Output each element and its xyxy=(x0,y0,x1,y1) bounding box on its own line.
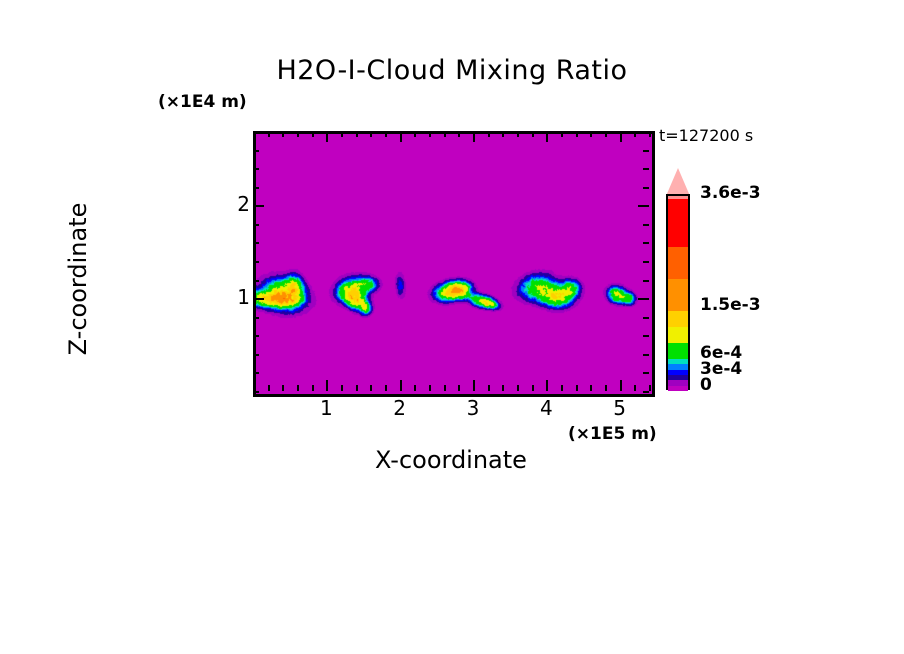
x-axis-title: X-coordinate xyxy=(253,446,649,474)
axis-tick xyxy=(400,131,402,142)
colorbar-band-yellow xyxy=(668,327,688,343)
axis-tick xyxy=(385,385,387,391)
axis-tick xyxy=(643,131,649,133)
axis-tick xyxy=(414,385,416,391)
axis-tick xyxy=(473,380,475,391)
axis-tick xyxy=(638,298,649,300)
axis-tick xyxy=(253,354,259,356)
axis-tick xyxy=(620,380,622,391)
contour-plot-area xyxy=(253,131,655,397)
axis-tick xyxy=(341,131,343,137)
axis-tick xyxy=(590,131,592,137)
colorbar: 3.6e-31.5e-36e-43e-40 xyxy=(664,168,814,398)
axis-tick xyxy=(253,298,264,300)
axis-tick xyxy=(356,131,358,137)
y-axis-title: Z-coordinate xyxy=(64,129,92,429)
axis-tick xyxy=(326,380,328,391)
axis-tick xyxy=(643,150,649,152)
axis-tick xyxy=(634,131,636,137)
axis-tick xyxy=(643,280,649,282)
axis-tick xyxy=(268,385,270,391)
axis-tick xyxy=(341,385,343,391)
colorbar-band-gold xyxy=(668,311,688,327)
axis-tick xyxy=(605,131,607,137)
timestamp-annotation: t=127200 s xyxy=(659,126,753,145)
axis-tick xyxy=(326,131,328,142)
axis-tick xyxy=(253,261,259,263)
axis-tick xyxy=(414,131,416,137)
axis-tick xyxy=(643,354,649,356)
axis-tick xyxy=(297,131,299,137)
axis-tick xyxy=(561,385,563,391)
axis-tick xyxy=(643,224,649,226)
axis-tick xyxy=(282,385,284,391)
axis-tick xyxy=(605,385,607,391)
axis-tick xyxy=(561,131,563,137)
y-tick-label: 2 xyxy=(220,192,250,216)
axis-tick xyxy=(385,131,387,137)
axis-tick xyxy=(282,131,284,137)
axis-tick xyxy=(517,131,519,137)
axis-tick xyxy=(643,261,649,263)
axis-tick xyxy=(253,205,264,207)
colorbar-tick-label: 1.5e-3 xyxy=(700,295,761,315)
axis-tick xyxy=(473,131,475,142)
axis-tick xyxy=(517,385,519,391)
axis-tick xyxy=(268,131,270,137)
axis-tick xyxy=(297,385,299,391)
colorbar-bands xyxy=(666,194,690,390)
axis-tick xyxy=(312,385,314,391)
axis-tick xyxy=(370,131,372,137)
axis-tick xyxy=(643,187,649,189)
x-axis-unit-label: (×1E5 m) xyxy=(568,424,657,444)
axis-tick xyxy=(532,385,534,391)
axis-tick xyxy=(620,131,622,142)
axis-tick xyxy=(502,131,504,137)
axis-tick xyxy=(649,131,651,137)
axis-tick xyxy=(429,131,431,137)
colorbar-tick-label: 0 xyxy=(700,375,712,395)
x-tick-label: 4 xyxy=(526,396,566,420)
axis-tick xyxy=(312,131,314,137)
x-tick-label: 2 xyxy=(380,396,420,420)
axis-tick xyxy=(253,391,259,393)
axis-tick xyxy=(444,131,446,137)
y-axis-unit-label: (×1E4 m) xyxy=(158,92,247,112)
axis-tick xyxy=(576,385,578,391)
colorbar-band-orange xyxy=(668,279,688,311)
colorbar-band-red xyxy=(668,199,688,247)
axis-tick xyxy=(643,242,649,244)
page-title: H2O-I-Cloud Mixing Ratio xyxy=(0,55,904,86)
axis-tick xyxy=(253,335,259,337)
axis-tick xyxy=(253,280,259,282)
axis-tick xyxy=(444,385,446,391)
axis-tick xyxy=(638,205,649,207)
axis-tick xyxy=(458,131,460,137)
axis-tick xyxy=(634,385,636,391)
axis-tick xyxy=(253,150,259,152)
axis-tick xyxy=(400,380,402,391)
axis-tick xyxy=(429,385,431,391)
colorbar-band-magenta xyxy=(668,386,688,391)
axis-tick xyxy=(643,335,649,337)
contour-canvas xyxy=(256,134,652,394)
y-tick-label: 1 xyxy=(220,285,250,309)
axis-tick xyxy=(253,168,259,170)
axis-tick xyxy=(643,317,649,319)
axis-tick xyxy=(576,131,578,137)
colorbar-band-green xyxy=(668,343,688,359)
colorbar-band-dark-orange xyxy=(668,247,688,279)
axis-tick xyxy=(370,385,372,391)
axis-tick xyxy=(546,380,548,391)
colorbar-arrow-cap-icon xyxy=(666,168,690,196)
axis-tick xyxy=(532,131,534,137)
axis-tick xyxy=(643,168,649,170)
axis-tick xyxy=(546,131,548,142)
axis-tick xyxy=(502,385,504,391)
x-tick-label: 3 xyxy=(453,396,493,420)
axis-tick xyxy=(649,385,651,391)
x-tick-label: 1 xyxy=(306,396,346,420)
colorbar-tick-label: 3.6e-3 xyxy=(700,183,761,203)
axis-tick xyxy=(488,385,490,391)
axis-tick xyxy=(643,372,649,374)
axis-tick xyxy=(643,391,649,393)
axis-tick xyxy=(253,131,259,133)
axis-tick xyxy=(253,224,259,226)
axis-tick xyxy=(590,385,592,391)
axis-tick xyxy=(253,317,259,319)
axis-tick xyxy=(488,131,490,137)
axis-tick xyxy=(253,242,259,244)
x-tick-label: 5 xyxy=(600,396,640,420)
axis-tick xyxy=(356,385,358,391)
axis-tick xyxy=(253,372,259,374)
axis-tick xyxy=(253,187,259,189)
axis-tick xyxy=(458,385,460,391)
